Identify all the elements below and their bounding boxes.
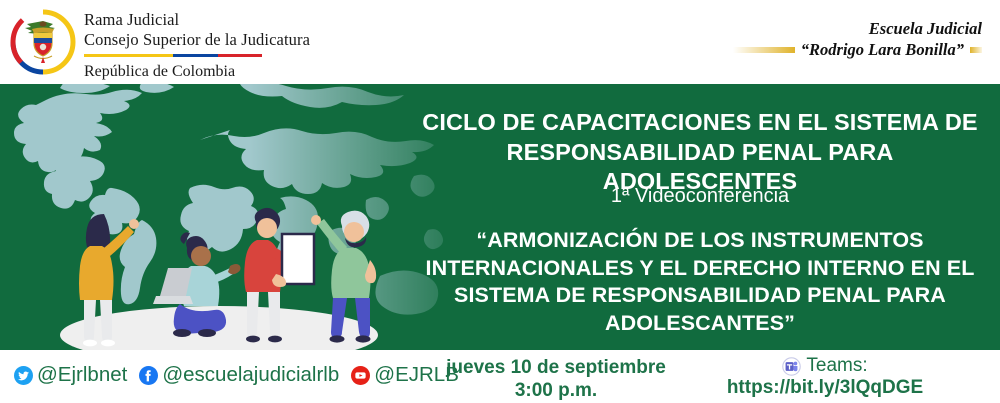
green-content-panel: CICLO DE CAPACITACIONES EN EL SISTEMA DE…: [0, 84, 1000, 350]
facebook-icon[interactable]: [139, 366, 158, 385]
microsoft-teams-icon: [782, 357, 801, 376]
gold-flourish-left-icon: [733, 47, 795, 53]
teams-label: Teams:: [806, 355, 867, 377]
twitter-handle[interactable]: @Ejrlbnet: [37, 363, 127, 387]
header-bar: Rama Judicial Consejo Superior de la Jud…: [0, 0, 1000, 84]
country-label: República de Colombia: [84, 63, 310, 81]
footer-bar: @Ejrlbnet @escuelajudicialrlb @EJRLB jue…: [0, 350, 1000, 400]
teams-meeting-link[interactable]: https://bit.ly/3lQqDGE: [660, 377, 990, 400]
page-title: CICLO DE CAPACITACIONES EN EL SISTEMA DE…: [410, 108, 990, 197]
figure-woman-yellow: [79, 214, 139, 346]
session-subtitle: 1ª Videoconferencia: [410, 185, 990, 208]
colombia-coat-of-arms-emblem: [10, 9, 76, 75]
youtube-icon[interactable]: [351, 366, 370, 385]
institution-titles: Rama Judicial Consejo Superior de la Jud…: [84, 10, 310, 81]
school-line1: Escuela Judicial: [733, 18, 982, 39]
facebook-handle[interactable]: @escuelajudicialrlb: [162, 363, 339, 387]
institution-line2: Consejo Superior de la Judicatura: [84, 30, 310, 50]
teams-access: Teams: https://bit.ly/3lQqDGE: [660, 355, 990, 400]
figure-woman-laptop: [153, 232, 241, 337]
social-links: @Ejrlbnet @escuelajudicialrlb @EJRLB: [14, 363, 467, 387]
session-topic: “ARMONIZACIÓN DE LOS INSTRUMENTOS INTERN…: [408, 227, 992, 337]
colombia-flag-divider: [84, 54, 262, 57]
figure-person-tablet: [244, 208, 314, 342]
event-date: jueves 10 de septiembre: [438, 356, 674, 379]
judicial-school-logo: Escuela Judicial “Rodrigo Lara Bonilla”: [733, 18, 982, 60]
school-line2: “Rodrigo Lara Bonilla”: [801, 39, 964, 60]
gold-flourish-right-icon: [970, 47, 982, 53]
event-time: 3:00 p.m.: [438, 379, 674, 402]
institution-line1: Rama Judicial: [84, 10, 310, 30]
twitter-icon[interactable]: [14, 366, 33, 385]
event-datetime: jueves 10 de septiembre 3:00 p.m.: [438, 356, 674, 403]
figure-man-green: [311, 211, 376, 343]
people-illustration: [60, 200, 390, 350]
videoconference-announcement-poster: Rama Judicial Consejo Superior de la Jud…: [0, 0, 1000, 400]
